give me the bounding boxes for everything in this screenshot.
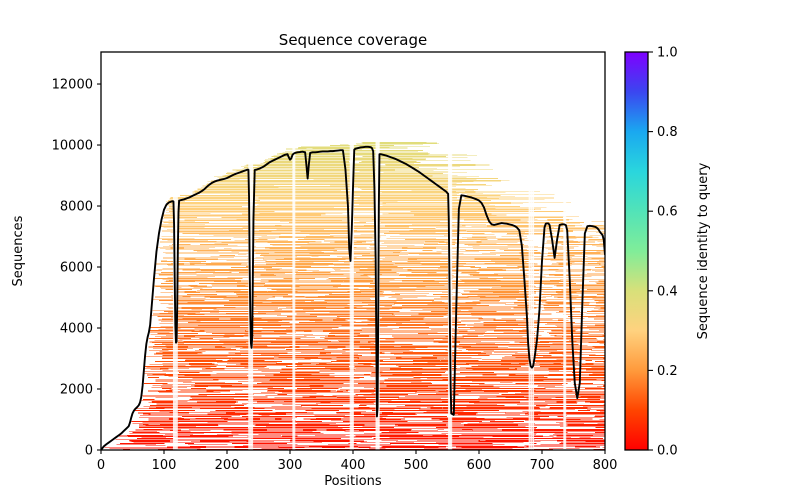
y-tick-label: 10000 — [52, 139, 93, 154]
x-tick-label: 600 — [467, 458, 492, 473]
chart-title: Sequence coverage — [279, 31, 427, 49]
y-tick-label: 0 — [85, 444, 93, 459]
y-tick-label: 2000 — [60, 383, 93, 398]
x-tick-label: 400 — [341, 458, 366, 473]
colorbar-tick-label: 0.2 — [657, 364, 678, 379]
x-tick-label: 300 — [278, 458, 303, 473]
x-tick-label: 0 — [97, 458, 105, 473]
colorbar-tick-label: 0.0 — [657, 444, 678, 459]
figure-container: Sequence coverage 0100200300400500600700… — [0, 0, 800, 500]
colorbar-tick-label: 1.0 — [657, 46, 678, 61]
x-axis-label: Positions — [324, 474, 382, 489]
x-tick-label: 200 — [215, 458, 240, 473]
x-tick-label: 500 — [404, 458, 429, 473]
y-tick-label: 8000 — [60, 200, 93, 215]
colorbar-tick-label: 0.8 — [657, 125, 678, 140]
colorbar-label: Sequence identity to query — [696, 162, 711, 339]
colorbar-gradient — [625, 52, 648, 450]
x-tick-label: 700 — [530, 458, 555, 473]
x-tick-label: 800 — [593, 458, 618, 473]
colorbar-tick-label: 0.6 — [657, 205, 678, 220]
sequence-coverage-chart: Sequence coverage 0100200300400500600700… — [0, 0, 800, 500]
y-tick-label: 6000 — [60, 261, 93, 276]
y-axis-label: Sequences — [11, 215, 26, 286]
x-tick-label: 100 — [152, 458, 177, 473]
y-tick-label: 4000 — [60, 322, 93, 337]
colorbar-tick-label: 0.4 — [657, 284, 678, 299]
y-tick-label: 12000 — [52, 78, 93, 93]
